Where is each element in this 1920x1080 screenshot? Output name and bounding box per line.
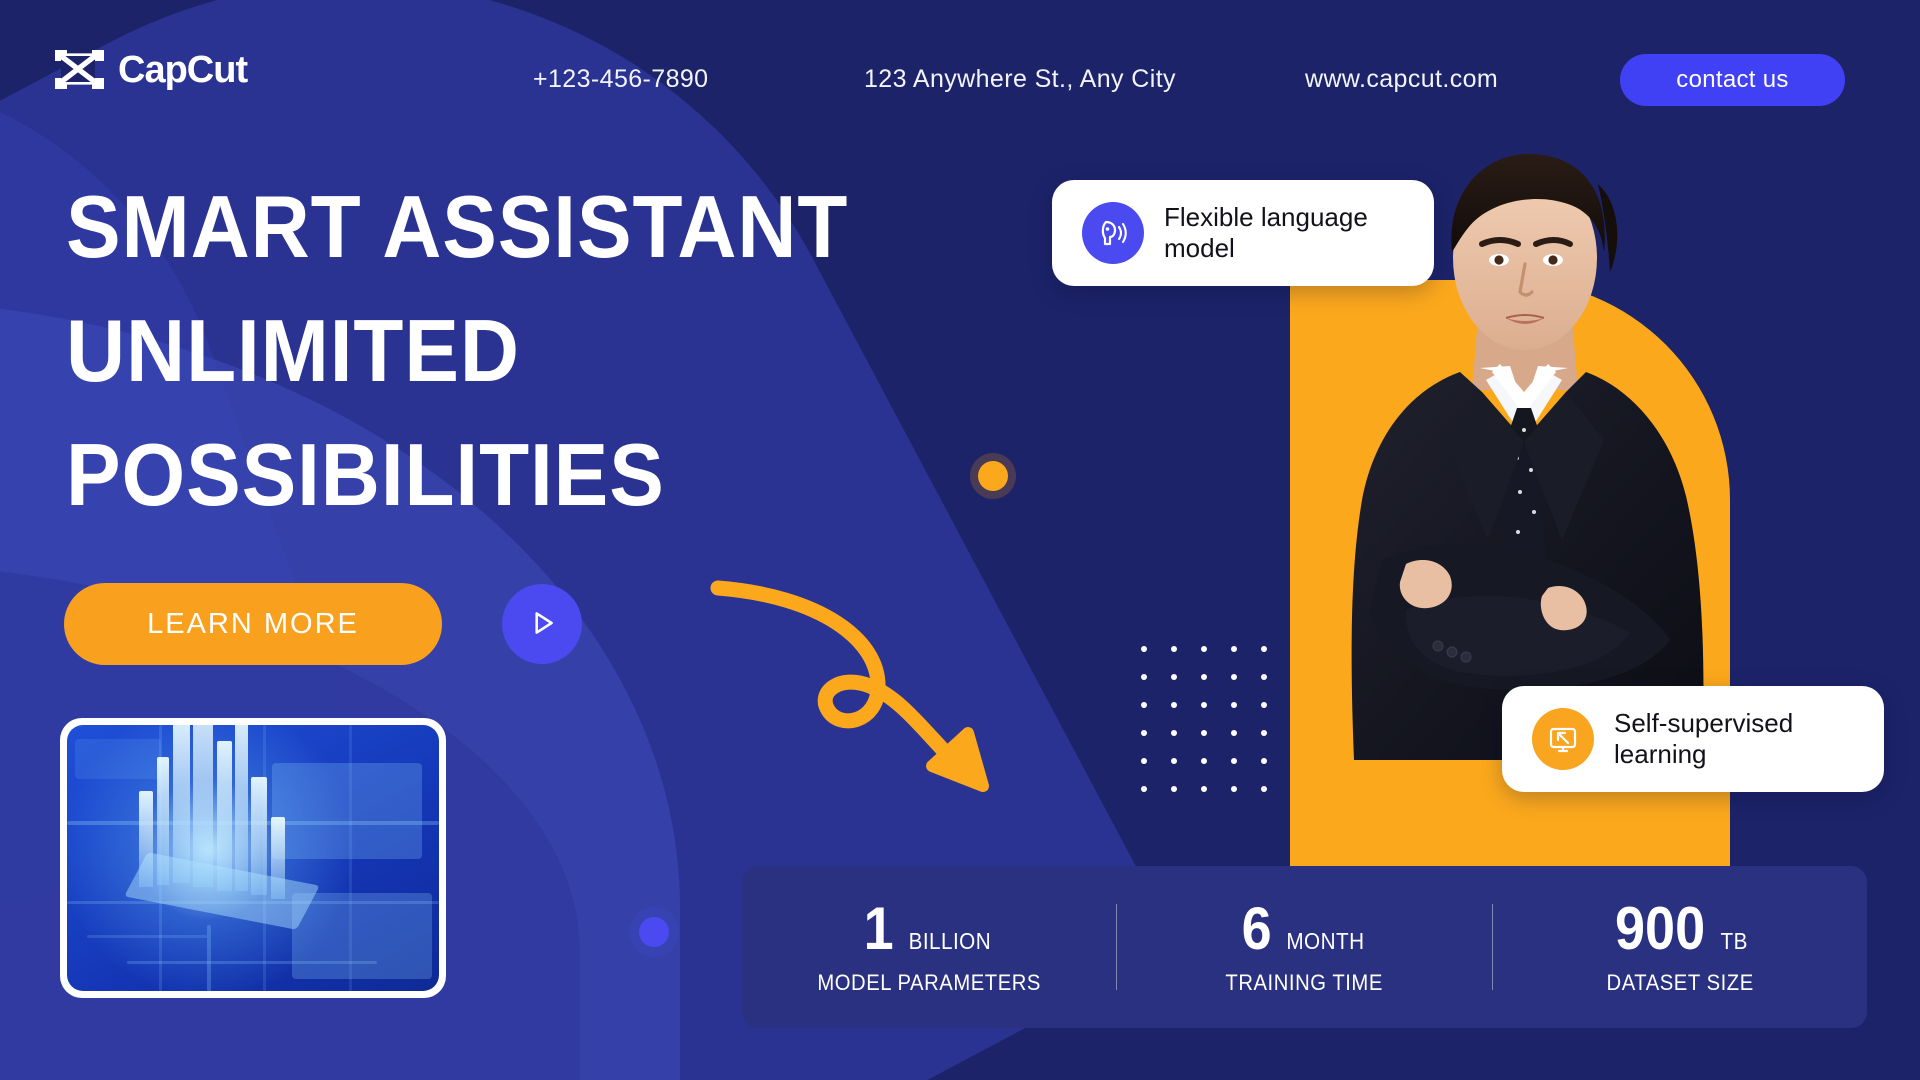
badge-label: Self-supervised learning bbox=[1614, 708, 1854, 770]
orange-accent-dot bbox=[978, 461, 1008, 491]
badge-label: Flexible language model bbox=[1164, 202, 1404, 264]
stat-unit: BILLION bbox=[909, 928, 992, 955]
learn-more-button[interactable]: LEARN MORE bbox=[64, 583, 442, 665]
page-title: SMART ASSISTANT UNLIMITED POSSIBILITIES bbox=[66, 165, 907, 537]
stat-number: 6 bbox=[1242, 899, 1272, 959]
play-triangle-icon bbox=[525, 606, 559, 643]
stats-bar: 1 BILLION MODEL PARAMETERS 6 MONTH TRAIN… bbox=[742, 866, 1867, 1028]
badge-flexible-language-model[interactable]: Flexible language model bbox=[1052, 180, 1434, 286]
ai-circuit-city-image[interactable] bbox=[60, 718, 446, 998]
monitor-arrow-icon bbox=[1532, 708, 1594, 770]
stat-unit: MONTH bbox=[1287, 928, 1365, 955]
stat-number: 900 bbox=[1615, 899, 1705, 959]
headline-line-1: SMART ASSISTANT bbox=[66, 165, 848, 289]
contact-us-button[interactable]: contact us bbox=[1620, 54, 1845, 106]
indigo-accent-dot bbox=[639, 917, 669, 947]
page-header: CapCut +123-456-7890 123 Anywhere St., A… bbox=[0, 0, 1920, 132]
thumbnail-graphic bbox=[67, 725, 439, 991]
brand-logo[interactable]: CapCut bbox=[55, 48, 247, 92]
stat-label: TRAINING TIME bbox=[1132, 970, 1476, 996]
stat-number: 1 bbox=[864, 899, 894, 959]
stat-model-parameters: 1 BILLION MODEL PARAMETERS bbox=[742, 899, 1116, 996]
stat-training-time: 6 MONTH TRAINING TIME bbox=[1117, 899, 1491, 996]
stat-unit: TB bbox=[1721, 928, 1748, 955]
stat-label: MODEL PARAMETERS bbox=[757, 970, 1101, 996]
headline-line-2: UNLIMITED bbox=[66, 289, 848, 413]
stat-dataset-size: 900 TB DATASET SIZE bbox=[1493, 899, 1867, 996]
brand-name: CapCut bbox=[118, 49, 247, 92]
header-website[interactable]: www.capcut.com bbox=[1305, 65, 1498, 94]
stat-label: DATASET SIZE bbox=[1508, 970, 1852, 996]
header-phone[interactable]: +123-456-7890 bbox=[533, 65, 709, 94]
badge-self-supervised-learning[interactable]: Self-supervised learning bbox=[1502, 686, 1884, 792]
cta-row: LEARN MORE bbox=[64, 583, 582, 665]
header-address[interactable]: 123 Anywhere St., Any City bbox=[864, 65, 1176, 94]
play-video-button[interactable] bbox=[502, 584, 582, 664]
capcut-logo-icon bbox=[55, 48, 105, 92]
curly-arrow-icon bbox=[700, 570, 1040, 835]
headline-line-3: POSSIBILITIES bbox=[66, 413, 848, 537]
speaking-face-icon bbox=[1082, 202, 1144, 264]
